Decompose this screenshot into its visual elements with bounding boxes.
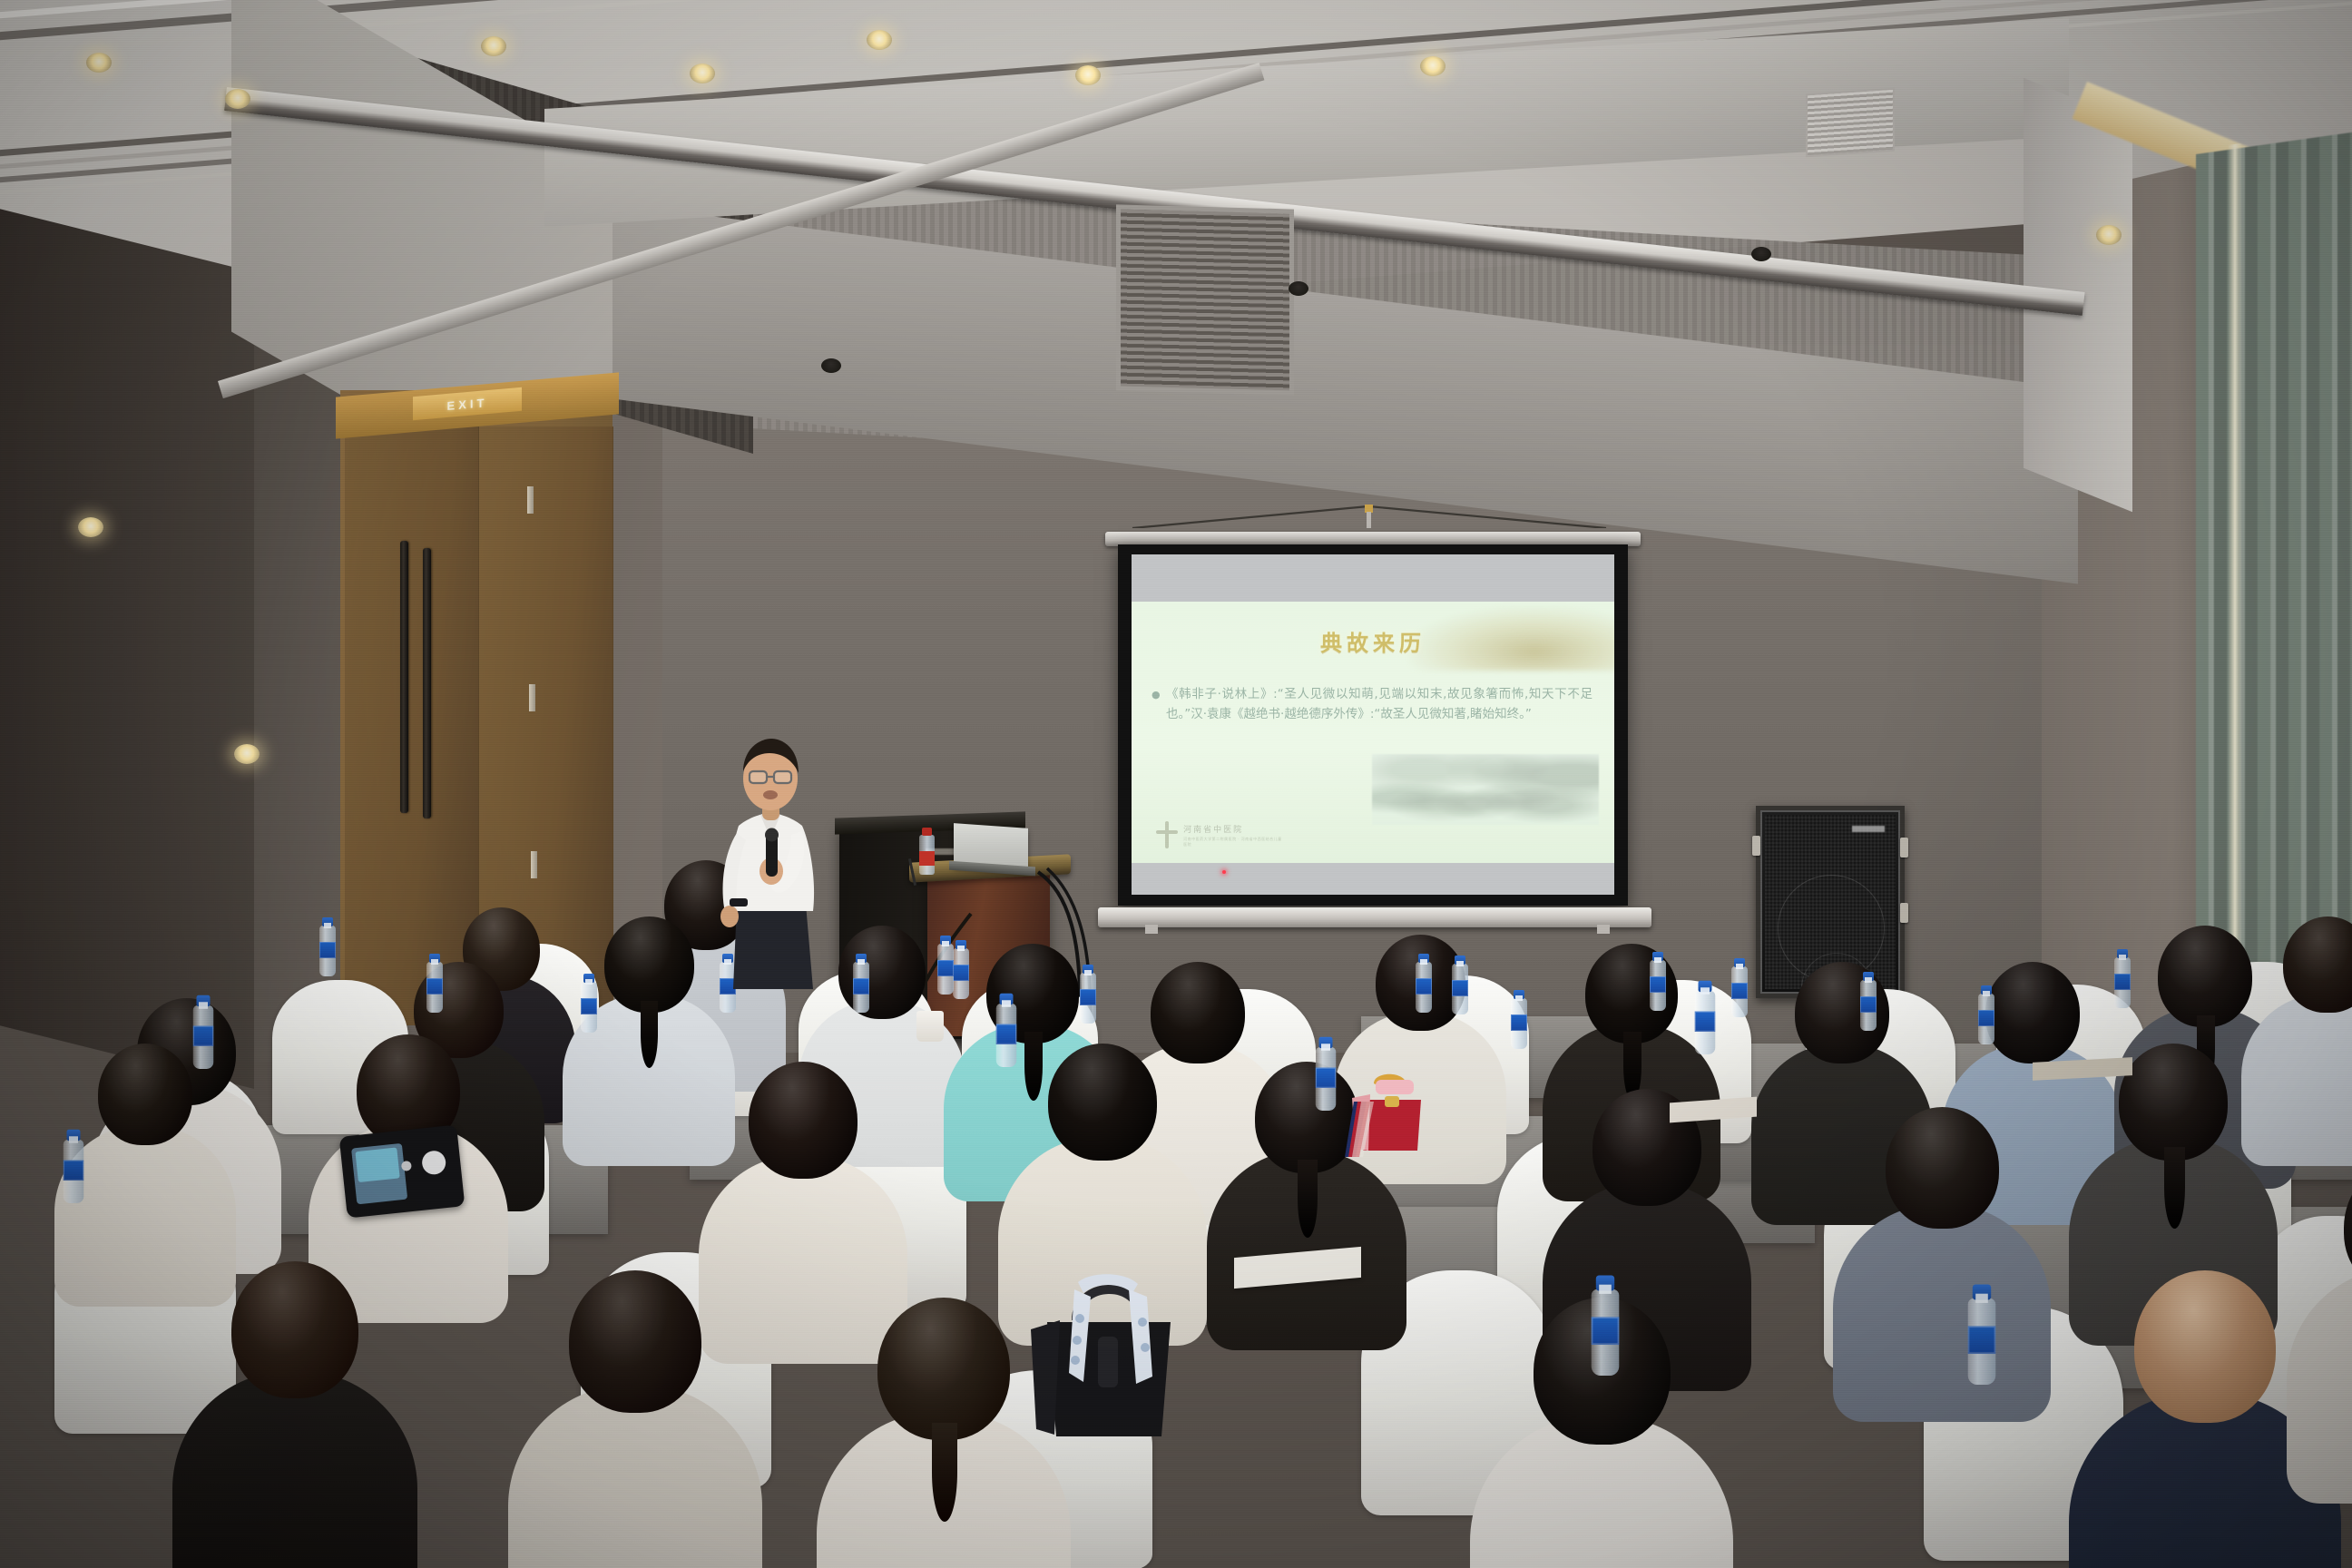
bottle-neck xyxy=(1084,970,1092,975)
attendee-head xyxy=(1886,1107,1999,1229)
slide-title: 典故来历 xyxy=(1132,625,1614,657)
bottle-neck xyxy=(2119,955,2126,960)
attendee-torso xyxy=(172,1371,417,1568)
attendee-head xyxy=(569,1270,701,1413)
laser-pointer-dot xyxy=(1222,870,1226,874)
water-bottle[interactable] xyxy=(1695,991,1716,1054)
bottle-neck xyxy=(1654,957,1661,963)
water-bottle[interactable] xyxy=(426,962,443,1013)
water-bottle[interactable] xyxy=(853,962,869,1013)
bottle-label xyxy=(937,960,954,976)
attendee-head xyxy=(98,1044,192,1145)
water-bottle[interactable] xyxy=(2114,957,2131,1008)
ceiling-downlight xyxy=(234,744,260,764)
presenter-trousers xyxy=(733,904,813,989)
presenter-hand-left xyxy=(720,906,739,927)
ponytail xyxy=(1298,1160,1318,1238)
presenter-mouth xyxy=(763,790,778,799)
water-bottle[interactable] xyxy=(1592,1289,1620,1376)
bottle-label xyxy=(1650,976,1666,993)
red-handbag xyxy=(1343,1071,1438,1157)
water-bottle[interactable] xyxy=(1860,980,1877,1031)
wristwatch-icon xyxy=(730,898,748,906)
water-bottle[interactable] xyxy=(1650,960,1666,1011)
screen-bottom-weight-bar[interactable] xyxy=(1098,907,1651,927)
slide-body-text: ● 《韩非子·说林上》:“圣人见微以知萌,见端以知末,故见象箸而怖,知天下不足也… xyxy=(1166,685,1592,725)
attendee-head xyxy=(2119,1044,2228,1161)
bottle-label xyxy=(1592,1317,1620,1345)
bottle-neck xyxy=(1983,991,1990,996)
water-bottle[interactable] xyxy=(1511,998,1527,1049)
bottle-neck xyxy=(585,979,593,985)
water-bottle[interactable] xyxy=(1968,1298,1996,1385)
water-bottle[interactable] xyxy=(996,1004,1017,1067)
water-bottle[interactable] xyxy=(1080,973,1096,1024)
attendee-head xyxy=(877,1298,1010,1440)
disposable-cup xyxy=(916,1011,944,1042)
bottle-neck xyxy=(1515,995,1523,1001)
bottle-neck xyxy=(1456,961,1464,966)
water-bottle[interactable] xyxy=(1452,964,1468,1014)
bottle-neck xyxy=(69,1136,78,1143)
ceiling-speaker-grille xyxy=(1751,247,1771,261)
presenter xyxy=(690,726,853,989)
ceiling-downlight xyxy=(1075,65,1101,85)
door-hinge-icon xyxy=(529,684,535,711)
projection-screen: 典故来历 ● 《韩非子·说林上》:“圣人见微以知萌,见端以知末,故见象箸而怖,知… xyxy=(1118,544,1628,906)
attendee-bald-head xyxy=(2134,1270,2276,1423)
attendee-head xyxy=(1985,962,2080,1063)
bottle-neck xyxy=(324,923,331,928)
water-bottle[interactable] xyxy=(581,982,597,1033)
attendee-head xyxy=(231,1261,358,1398)
bottle-label xyxy=(853,978,869,995)
ponytail xyxy=(2164,1147,2185,1229)
water-bottle[interactable] xyxy=(319,926,336,976)
bottle-neck xyxy=(1321,1044,1330,1051)
projected-slide: 典故来历 ● 《韩非子·说林上》:“圣人见微以知萌,见端以知末,故见象箸而怖,知… xyxy=(1132,602,1614,863)
bottle-label xyxy=(1695,1012,1716,1033)
attendee xyxy=(2287,1161,2352,1530)
bottle-label xyxy=(319,942,336,958)
attendee-torso xyxy=(1833,1204,2051,1422)
conference-room-photo: EXIT 典故来历 ● 《韩非子·说林上》:“圣人见微以知萌,见端以知末,故见象… xyxy=(0,0,2352,1568)
bottle-label xyxy=(2114,974,2131,990)
logo-secondary-text: 河南中医药大学第二附属医院 · 河南省中西医结合儿童医院 xyxy=(1183,837,1282,848)
water-bottle[interactable] xyxy=(1416,962,1432,1013)
ponytail xyxy=(641,1001,658,1068)
bottle-label xyxy=(426,978,443,995)
case-latch-icon xyxy=(1900,903,1908,923)
logo-mark-icon xyxy=(1155,821,1177,848)
bottle-neck xyxy=(1865,977,1872,983)
screen-surface: 典故来历 ● 《韩非子·说林上》:“圣人见微以知萌,见端以知末,故见象箸而怖,知… xyxy=(1132,554,1614,895)
bottle-label xyxy=(1080,989,1096,1005)
slide-artwork-image xyxy=(1372,754,1599,825)
exit-sign-label: EXIT xyxy=(447,396,488,413)
water-bottle[interactable] xyxy=(1316,1047,1337,1111)
attendee-head xyxy=(2283,916,2352,1013)
door-hinge-icon xyxy=(527,486,534,514)
smartphone[interactable] xyxy=(339,1124,465,1218)
speaker-brand-logo xyxy=(1852,826,1885,832)
bottle-label xyxy=(1978,1010,1994,1026)
bottle-neck xyxy=(1002,1000,1011,1007)
bottle-label xyxy=(1731,983,1748,999)
attendee-head xyxy=(2158,926,2252,1027)
bottle-neck xyxy=(857,959,865,965)
screen-leg xyxy=(1597,925,1610,934)
ceiling-speaker-grille xyxy=(1289,281,1308,296)
bottle-label xyxy=(1416,978,1432,995)
door-handle-icon[interactable] xyxy=(423,548,431,818)
attendee-head xyxy=(749,1062,857,1179)
bottle-label xyxy=(1968,1326,1996,1354)
ceiling-downlight xyxy=(867,30,892,50)
bottle-neck xyxy=(1736,964,1743,969)
ceiling-speaker-grille xyxy=(821,358,841,373)
water-bottle[interactable] xyxy=(64,1140,84,1203)
bottle-label xyxy=(1511,1014,1527,1031)
ceiling-downlight xyxy=(690,64,715,83)
bottle-on-podium xyxy=(919,828,935,875)
air-vent-icon xyxy=(1116,204,1294,395)
bottle-neck xyxy=(1599,1285,1612,1294)
door-handle-icon[interactable] xyxy=(400,541,408,813)
bottle-neck xyxy=(1975,1294,1988,1303)
attendee-head xyxy=(2344,1161,2352,1294)
bottle-label xyxy=(996,1024,1017,1045)
bottle-label xyxy=(1316,1068,1337,1089)
case-latch-icon xyxy=(1900,838,1908,857)
water-bottle[interactable] xyxy=(193,1005,214,1069)
bottle-neck xyxy=(199,1002,208,1009)
ponytail xyxy=(932,1423,957,1522)
attendee-head xyxy=(604,916,694,1013)
logo-primary-text: 河南省中医院 xyxy=(1183,823,1282,835)
ceiling-downlight xyxy=(1420,56,1445,76)
black-handbag xyxy=(1024,1266,1187,1438)
bottle-label xyxy=(581,998,597,1014)
case-latch-icon xyxy=(1752,836,1760,856)
attendee xyxy=(508,1270,762,1568)
bottle-label xyxy=(1860,996,1877,1013)
bottle-neck xyxy=(1420,959,1427,965)
attendee-torso xyxy=(2287,1268,2352,1504)
bottle-neck xyxy=(957,946,965,951)
water-bottle[interactable] xyxy=(1978,994,1994,1044)
bottle-neck xyxy=(942,941,949,946)
slide-body-paragraph: 《韩非子·说林上》:“圣人见微以知萌,见端以知末,故见象箸而怖,知天下不足也。”… xyxy=(1166,687,1592,721)
ceiling-downlight xyxy=(78,517,103,537)
bottle-neck xyxy=(1700,987,1710,995)
screen-leg xyxy=(1145,925,1158,934)
slide-institution-logo: 河南省中医院 河南中医药大学第二附属医院 · 河南省中西医结合儿童医院 xyxy=(1155,819,1282,850)
left-wall-near xyxy=(0,204,254,1089)
bottle-label xyxy=(1452,980,1468,996)
ceiling-downlight xyxy=(86,53,112,73)
ceiling-downlight xyxy=(2096,225,2122,245)
screen-hanging-wire xyxy=(1125,505,1615,528)
water-bottle[interactable] xyxy=(953,948,969,999)
ceiling-downlight xyxy=(481,36,506,56)
water-bottle[interactable] xyxy=(937,944,954,995)
bottle-label xyxy=(953,965,969,981)
ceiling-downlight xyxy=(225,89,250,109)
bottle-label xyxy=(193,1026,214,1047)
air-vent-icon xyxy=(1806,88,1895,158)
bottle-label xyxy=(64,1161,84,1181)
attendee xyxy=(1833,1107,2051,1446)
bullet-icon: ● xyxy=(1151,687,1161,703)
attendee-head xyxy=(1048,1044,1157,1161)
bottle-neck xyxy=(431,959,438,965)
door-hinge-icon xyxy=(531,851,537,878)
water-bottle[interactable] xyxy=(1731,966,1748,1017)
